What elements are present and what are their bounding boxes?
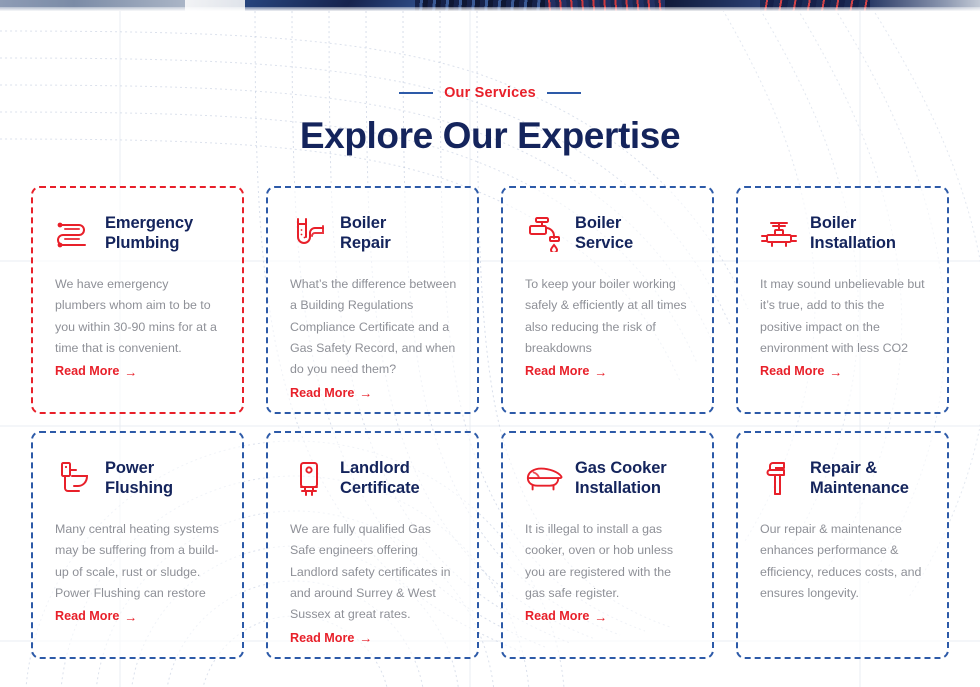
card-title: Repair & Maintenance xyxy=(810,457,909,498)
read-more-link[interactable]: Read More → xyxy=(525,364,607,378)
toilet-icon xyxy=(55,459,93,499)
card-title: Boiler Installation xyxy=(810,212,896,253)
card-header: Repair & Maintenance xyxy=(760,457,927,505)
read-more-link[interactable]: Read More → xyxy=(760,364,842,378)
read-more-label: Read More xyxy=(55,609,119,623)
card-description: What’s the difference between a Building… xyxy=(290,274,457,381)
card-header: Boiler Repair xyxy=(290,212,457,260)
card-header: Landlord Certificate xyxy=(290,457,457,505)
card-description: To keep your boiler working safely & eff… xyxy=(525,274,692,359)
card-title-line1: Landlord xyxy=(340,459,410,477)
card-title-line1: Power xyxy=(105,459,154,477)
card-title-line2: Maintenance xyxy=(810,479,909,497)
card-title-line2: Installation xyxy=(810,234,896,252)
card-description: We have emergency plumbers whom aim to b… xyxy=(55,274,222,359)
services-section: Our Services Explore Our Expertise Emerg… xyxy=(0,0,980,687)
section-eyebrow: Our Services xyxy=(0,85,980,101)
arrow-right-icon: → xyxy=(594,610,607,623)
pipe-wrench-icon xyxy=(760,459,798,499)
tap-faucet-icon xyxy=(525,214,563,254)
card-title-line2: Repair xyxy=(340,234,391,252)
card-title: Landlord Certificate xyxy=(340,457,420,498)
service-card-boiler-repair[interactable]: Boiler Repair What’s the difference betw… xyxy=(266,186,479,414)
read-more-link[interactable]: Read More → xyxy=(55,609,137,623)
arrow-right-icon: → xyxy=(124,365,137,378)
card-title: Boiler Service xyxy=(575,212,633,253)
service-card-emergency-plumbing[interactable]: Emergency Plumbing We have emergency plu… xyxy=(31,186,244,414)
card-header: Emergency Plumbing xyxy=(55,212,222,260)
gate-valve-icon xyxy=(760,214,798,254)
eyebrow-rule-left xyxy=(399,92,433,94)
card-header: Power Flushing xyxy=(55,457,222,505)
read-more-label: Read More xyxy=(525,609,589,623)
card-title: Emergency Plumbing xyxy=(105,212,193,253)
arrow-right-icon: → xyxy=(594,365,607,378)
eyebrow-label: Our Services xyxy=(444,85,536,101)
drain-trap-icon xyxy=(290,214,328,254)
service-card-power-flushing[interactable]: Power Flushing Many central heating syst… xyxy=(31,431,244,659)
card-title-line1: Gas Cooker xyxy=(575,459,667,477)
read-more-label: Read More xyxy=(290,631,354,645)
read-more-link[interactable]: Read More → xyxy=(55,364,137,378)
arrow-right-icon: → xyxy=(829,365,842,378)
read-more-label: Read More xyxy=(290,386,354,400)
arrow-right-icon: → xyxy=(124,610,137,623)
eyebrow-rule-right xyxy=(547,92,581,94)
water-heater-icon xyxy=(290,459,328,499)
read-more-label: Read More xyxy=(55,364,119,378)
card-title-line1: Boiler xyxy=(340,214,386,232)
arrow-right-icon: → xyxy=(359,632,372,645)
card-title-line2: Service xyxy=(575,234,633,252)
read-more-link[interactable]: Read More → xyxy=(290,631,372,645)
card-description: It may sound unbelievable but it’s true,… xyxy=(760,274,927,359)
card-description: Our repair & maintenance enhances perfor… xyxy=(760,519,927,604)
card-title: Gas Cooker Installation xyxy=(575,457,667,498)
card-description: Many central heating systems may be suff… xyxy=(55,519,222,604)
card-description: It is illegal to install a gas cooker, o… xyxy=(525,519,692,604)
service-card-landlord-certificate[interactable]: Landlord Certificate We are fully qualif… xyxy=(266,431,479,659)
card-title-line2: Plumbing xyxy=(105,234,179,252)
arrow-right-icon: → xyxy=(359,387,372,400)
card-description: We are fully qualified Gas Safe engineer… xyxy=(290,519,457,626)
read-more-link[interactable]: Read More → xyxy=(525,609,607,623)
card-title-line2: Flushing xyxy=(105,479,173,497)
service-card-gas-cooker-installation[interactable]: Gas Cooker Installation It is illegal to… xyxy=(501,431,714,659)
bathtub-icon xyxy=(525,459,563,499)
card-title-line1: Emergency xyxy=(105,214,193,232)
card-title: Power Flushing xyxy=(105,457,173,498)
coiled-pipe-icon xyxy=(55,214,93,254)
card-title-line1: Repair & xyxy=(810,459,877,477)
card-header: Gas Cooker Installation xyxy=(525,457,692,505)
services-card-grid: Emergency Plumbing We have emergency plu… xyxy=(31,186,949,659)
read-more-link[interactable]: Read More → xyxy=(290,386,372,400)
read-more-label: Read More xyxy=(760,364,824,378)
card-title-line1: Boiler xyxy=(810,214,856,232)
page-title: Explore Our Expertise xyxy=(0,115,980,157)
card-title: Boiler Repair xyxy=(340,212,391,253)
service-card-boiler-installation[interactable]: Boiler Installation It may sound unbelie… xyxy=(736,186,949,414)
card-title-line1: Boiler xyxy=(575,214,621,232)
card-header: Boiler Service xyxy=(525,212,692,260)
service-card-boiler-service[interactable]: Boiler Service To keep your boiler worki… xyxy=(501,186,714,414)
service-card-repair-maintenance[interactable]: Repair & Maintenance Our repair & mainte… xyxy=(736,431,949,659)
read-more-label: Read More xyxy=(525,364,589,378)
card-header: Boiler Installation xyxy=(760,212,927,260)
card-title-line2: Installation xyxy=(575,479,661,497)
card-title-line2: Certificate xyxy=(340,479,420,497)
